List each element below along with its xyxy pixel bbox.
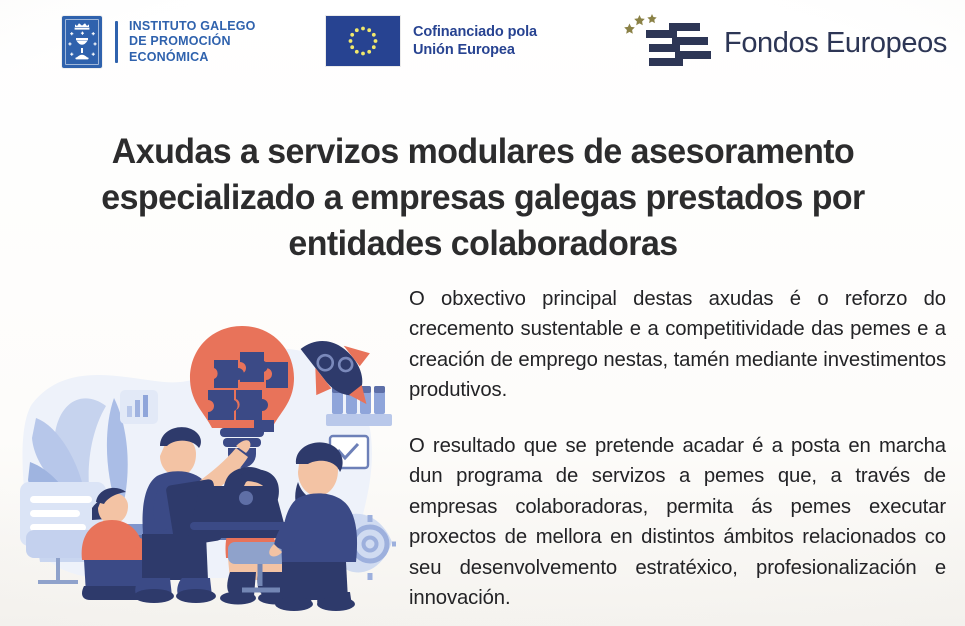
igape-wordmark: INSTITUTO GALEGO DE PROMOCIÓN ECONÓMICA: [129, 19, 256, 65]
eu-flag-icon: [326, 16, 400, 66]
igape-line-1: INSTITUTO GALEGO: [129, 19, 256, 34]
eu-line-2: Unión Europea: [413, 41, 537, 59]
paragraph-2: O resultado que se pretende acadar é a p…: [409, 431, 946, 614]
eu-wordmark: Cofinanciado pola Unión Europea: [413, 23, 537, 59]
igape-line-3: ECONÓMICA: [129, 50, 256, 65]
body-copy: O obxectivo principal destas axudas é o …: [409, 284, 946, 613]
eu-line-1: Cofinanciado pola: [413, 23, 537, 41]
logo-fondos-europeos: Fondos Europeos: [620, 9, 947, 77]
page-title: Axudas a servizos modulares de asesorame…: [48, 128, 917, 266]
logo-cofinanciado-union-europea: Cofinanciado pola Unión Europea: [326, 16, 537, 66]
fondos-europeos-mark-icon: [620, 9, 712, 77]
logo-divider: [115, 21, 118, 63]
content-area: O obxectivo principal destas axudas é o …: [0, 266, 965, 626]
team-collaboration-illustration: [14, 286, 396, 616]
logo-instituto-galego-de-promocion-economica: INSTITUTO GALEGO DE PROMOCIÓN ECONÓMICA: [62, 16, 256, 68]
xunta-galicia-coat-of-arms-icon: [62, 16, 102, 68]
logo-bar: INSTITUTO GALEGO DE PROMOCIÓN ECONÓMICA: [0, 0, 965, 92]
fondos-europeos-wordmark: Fondos Europeos: [724, 29, 947, 58]
igape-line-2: DE PROMOCIÓN: [129, 34, 256, 49]
paragraph-1: O obxectivo principal destas axudas é o …: [409, 284, 946, 406]
